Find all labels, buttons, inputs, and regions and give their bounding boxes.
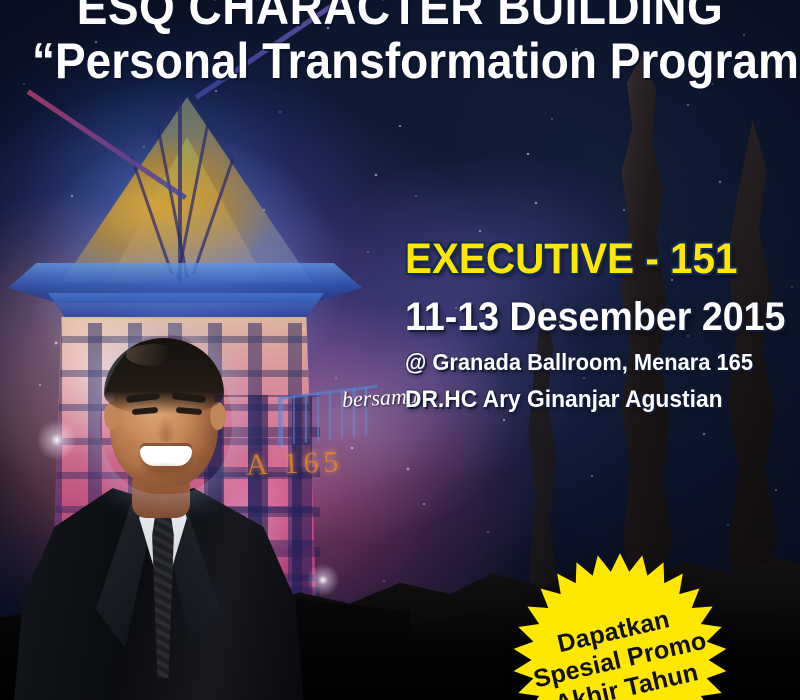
lens-flare xyxy=(306,563,340,597)
program-code: EXECUTIVE - 151 xyxy=(405,238,753,281)
speaker-portrait xyxy=(14,320,304,700)
event-poster: A 165 ESQ CHARACTER BUILDING “Person xyxy=(0,0,800,700)
event-date: 11-13 Desember 2015 xyxy=(405,297,753,337)
event-venue: @ Granada Ballroom, Menara 165 xyxy=(405,351,757,374)
chin-shadow xyxy=(132,462,196,484)
headline-line-2: “Personal Transformation Program” xyxy=(32,36,768,86)
tower-deck-lower xyxy=(36,293,336,319)
poster-headline: ESQ CHARACTER BUILDING “Personal Transfo… xyxy=(0,0,800,86)
event-details: EXECUTIVE - 151 11-13 Desember 2015 @ Gr… xyxy=(405,238,775,412)
headline-line-1: ESQ CHARACTER BUILDING xyxy=(32,0,768,32)
presenter-row: bersama DR.HC Ary Ginanjar Agustian xyxy=(405,388,775,412)
promo-starburst-badge[interactable]: Dapatkan Spesial Promo Akhir Tahun xyxy=(512,552,728,700)
nose xyxy=(156,416,176,442)
presenter-name: DR.HC Ary Ginanjar Agustian xyxy=(405,388,723,412)
hair-highlight xyxy=(126,344,180,366)
